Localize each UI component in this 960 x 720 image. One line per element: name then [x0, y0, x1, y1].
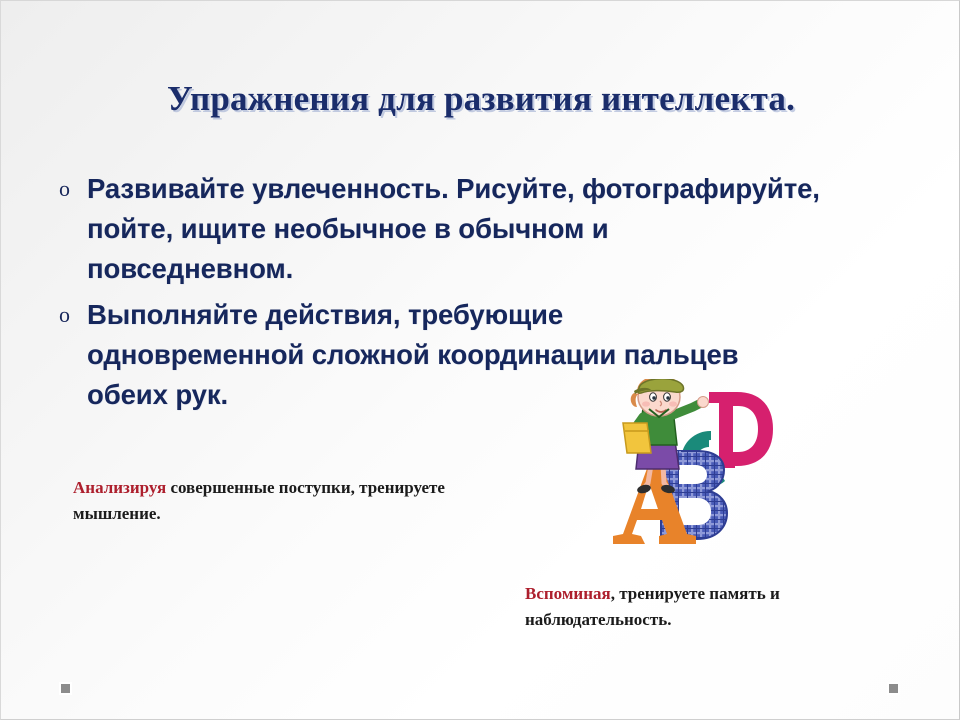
clipart-girl-with-abcd-letters — [601, 379, 831, 584]
note-analyzing-accent: Анализируя — [73, 478, 166, 497]
presentation-slide: Упражнения для развития интеллекта. o Ра… — [0, 0, 960, 720]
bullet-item-1-text: Развивайте увлеченность. Рисуйте, фотогр… — [87, 169, 822, 289]
note-analyzing: Анализируя совершенные поступки, трениру… — [73, 475, 503, 527]
corner-marker-right — [889, 684, 898, 693]
bullet-marker-icon: o — [53, 295, 87, 335]
slide-title: Упражнения для развития интеллекта. — [1, 79, 960, 119]
note-remembering: Вспоминая, тренируете память и наблюдате… — [525, 581, 925, 633]
corner-marker-left — [61, 684, 70, 693]
bullet-item-1: o Развивайте увлеченность. Рисуйте, фото… — [53, 169, 853, 289]
bullet-marker-icon: o — [53, 169, 87, 209]
note-remembering-accent: Вспоминая — [525, 584, 611, 603]
